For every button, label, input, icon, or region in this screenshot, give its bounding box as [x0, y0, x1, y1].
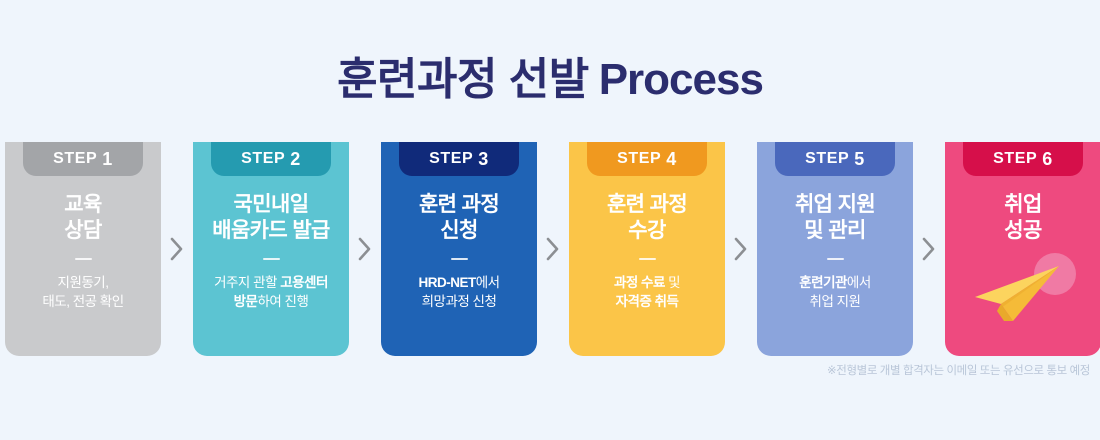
page-title-korean: 훈련과정 선발 [337, 55, 589, 104]
step-badge-label: STEP [53, 150, 97, 168]
step-description-5: 훈련기관에서취업 지원 [793, 273, 877, 311]
step-badge-6: STEP6 [963, 142, 1083, 176]
step-arrow-1 [161, 142, 193, 356]
paper-plane-area [945, 245, 1100, 337]
step-divider-5 [827, 258, 844, 260]
step-badge-number: 6 [1042, 149, 1053, 170]
step-card-6[interactable]: STEP6취업 성공 [945, 142, 1100, 356]
step-divider-3 [451, 258, 468, 260]
step-divider-4 [639, 258, 656, 260]
step-arrow-4 [725, 142, 757, 356]
step-arrow-3 [537, 142, 569, 356]
step-description-1: 지원동기,태도, 전공 확인 [36, 273, 129, 311]
step-badge-number: 4 [666, 149, 677, 170]
step-badge-number: 2 [290, 149, 301, 170]
paper-plane-icon [971, 261, 1063, 325]
step-description-2: 거주지 관할 고용센터방문하여 진행 [208, 273, 334, 311]
step-card-1[interactable]: STEP1교육 상담지원동기,태도, 전공 확인 [5, 142, 161, 356]
step-badge-number: 1 [102, 149, 113, 170]
process-steps: STEP1교육 상담지원동기,태도, 전공 확인STEP2국민내일 배움카드 발… [0, 142, 1100, 356]
step-title-1: 교육 상담 [64, 192, 101, 243]
step-badge-label: STEP [993, 150, 1037, 168]
page-title: 훈련과정 선발Process [337, 58, 763, 102]
step-card-4[interactable]: STEP4훈련 과정 수강과정 수료 및자격증 취득 [569, 142, 725, 356]
step-description-4: 과정 수료 및자격증 취득 [608, 273, 686, 311]
step-card-3[interactable]: STEP3훈련 과정 신청HRD-NET에서희망과정 신청 [381, 142, 537, 356]
chevron-right-icon [733, 236, 749, 262]
step-badge-5: STEP5 [775, 142, 895, 176]
step-title-3: 훈련 과정 신청 [419, 192, 499, 243]
step-badge-1: STEP1 [23, 142, 143, 176]
step-badge-4: STEP4 [587, 142, 707, 176]
chevron-right-icon [357, 236, 373, 262]
step-divider-2 [263, 258, 280, 260]
chevron-right-icon [921, 236, 937, 262]
step-title-2: 국민내일 배움카드 발급 [212, 192, 330, 243]
page-title-english: Process [599, 55, 763, 104]
step-arrow-2 [349, 142, 381, 356]
step-badge-label: STEP [805, 150, 849, 168]
chevron-right-icon [169, 236, 185, 262]
step-badge-number: 5 [854, 149, 865, 170]
step-title-6: 취업 성공 [1004, 192, 1041, 243]
step-description-3: HRD-NET에서희망과정 신청 [412, 273, 505, 311]
step-badge-2: STEP2 [211, 142, 331, 176]
page-title-area: 훈련과정 선발Process [0, 0, 1100, 102]
step-card-2[interactable]: STEP2국민내일 배움카드 발급거주지 관할 고용센터방문하여 진행 [193, 142, 349, 356]
step-badge-3: STEP3 [399, 142, 519, 176]
step-title-4: 훈련 과정 수강 [607, 192, 687, 243]
step-badge-label: STEP [241, 150, 285, 168]
step-title-5: 취업 지원 및 관리 [795, 192, 875, 243]
step-badge-number: 3 [478, 149, 489, 170]
step-badge-label: STEP [617, 150, 661, 168]
step-card-5[interactable]: STEP5취업 지원 및 관리훈련기관에서취업 지원 [757, 142, 913, 356]
footnote-text: ※전형별로 개별 합격자는 이메일 또는 유선으로 통보 예정 [827, 362, 1090, 378]
step-badge-label: STEP [429, 150, 473, 168]
chevron-right-icon [545, 236, 561, 262]
step-divider-1 [75, 258, 92, 260]
step-arrow-5 [913, 142, 945, 356]
